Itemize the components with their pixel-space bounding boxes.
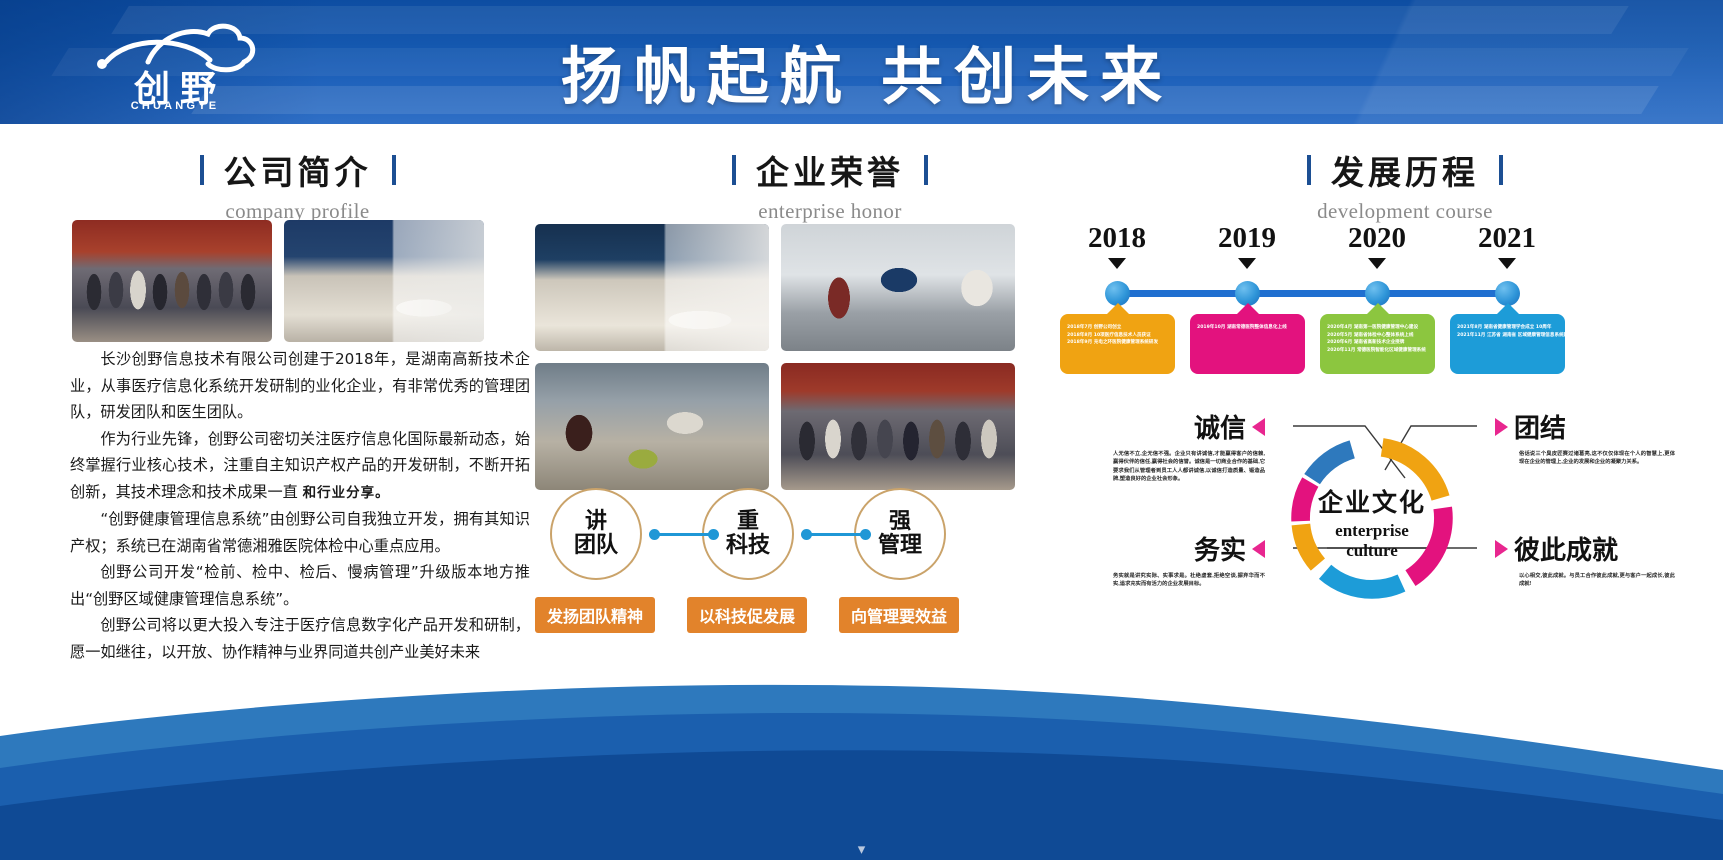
culture-quadrant-integrity: 诚信 人无信不立,企无信不强。企业只有讲诚信,才能赢得客户的信赖,赢得伙伴的信任… xyxy=(1085,408,1265,484)
culture-integrity-title: 诚信 xyxy=(1194,408,1246,445)
timeline-event: 2021年8月 湖南省健康管理学会成立 10周年 xyxy=(1457,324,1558,332)
culture-quadrant-mutual-success: 彼此成就 以心相交,彼此成就。与员工合作彼此成就,更与客户一起成长,彼此成就! xyxy=(1495,530,1675,589)
timeline-event: 2018年8月 10项医疗信息技术人员获证 xyxy=(1067,332,1168,340)
honor-title-en: enterprise honor xyxy=(570,199,1090,224)
flow-tag-3: 向管理要效益 xyxy=(839,597,959,633)
honor-title-cn: 企业荣誉 xyxy=(756,146,904,194)
honor-flow-diagram: 讲 团队 重 科技 强 管理 发扬团队精神 以科技促发展 xyxy=(530,484,1060,604)
profile-paragraph-2-text: 作为行业先锋，创野公司密切关注医疗信息化国际最新动态，始终掌握行业核心技术，注重… xyxy=(70,430,530,501)
flow-circle-1: 讲 团队 xyxy=(550,488,642,580)
timeline-card-2020: 2020年4月 湖南第一医院健康管理中心建设2020年5月 湖南省体检中心整体系… xyxy=(1320,314,1435,374)
page-header: 创野 CHUANGYE 扬帆起航 共创未来 xyxy=(0,0,1723,124)
profile-body: 长沙创野信息技术有限公司创建于2018年，是湖南高新技术企业，从事医疗信息化系统… xyxy=(70,346,530,665)
flow-tag-2: 以科技促发展 xyxy=(687,597,807,633)
photo-staff-group xyxy=(781,363,1015,490)
heading-bar-right xyxy=(392,155,396,185)
timeline-year-2021: 2021 xyxy=(1452,222,1562,255)
heading-bar-left xyxy=(200,155,204,185)
timeline-event: 2020年6月 湖南省高新技术企业授牌 xyxy=(1327,339,1428,347)
photo-open-office-workspace xyxy=(535,363,769,490)
flow-circle-3-line2: 管理 xyxy=(878,534,922,558)
photo-presentation-meeting xyxy=(781,224,1015,351)
honor-heading: 企业荣誉 enterprise honor xyxy=(570,146,1090,224)
honor-photo-row-1 xyxy=(535,224,1065,351)
flow-dot-1 xyxy=(649,529,660,540)
profile-paragraph-2: 作为行业先锋，创野公司密切关注医疗信息化国际最新动态，始终掌握行业核心技术，注重… xyxy=(70,426,530,507)
photo-office-reception xyxy=(284,220,484,342)
flow-circle-3-line1: 强 xyxy=(889,510,911,534)
culture-pragmatism-title: 务实 xyxy=(1194,530,1246,567)
timeline-card-2019: 2019年10月 湖南常德医院整体信息化上线 xyxy=(1190,314,1305,374)
arrow-right-icon xyxy=(1495,418,1508,436)
profile-heading: 公司简介 company profile xyxy=(60,146,535,224)
arrow-left-icon xyxy=(1252,540,1265,558)
heading-bar-right xyxy=(1499,155,1503,185)
culture-unity-body: 俗话说三个臭皮匠赛过诸葛亮,这不仅仅体现在个人的智慧上,更体现在企业的管理上,企… xyxy=(1495,450,1675,467)
timeline-card-2021: 2021年8月 湖南省健康管理学会成立 10周年2021年11月 江苏省 湖南省… xyxy=(1450,314,1565,374)
flow-dot-4 xyxy=(860,529,871,540)
corporate-culture-diagram: 企业文化 enterprise culture 诚信 人无信不立,企无信不强。企… xyxy=(1065,400,1685,630)
flow-circle-2-line1: 重 xyxy=(737,510,759,534)
timeline-event: 2018年9月 充电之环医院健康管理系统研发 xyxy=(1067,339,1168,347)
timeline-axis xyxy=(1112,290,1518,297)
culture-center-cn: 企业文化 xyxy=(1287,483,1457,519)
wave-graphic xyxy=(0,660,1723,860)
timeline-event: 2021年11月 江苏省 湖南省 区域健康管理信息系统建设 xyxy=(1457,332,1558,340)
footer-waves: ▾ xyxy=(0,660,1723,860)
heading-bar-right xyxy=(924,155,928,185)
development-title-en: development course xyxy=(1140,199,1670,224)
timeline-caret-4 xyxy=(1498,258,1516,269)
section-enterprise-honor: 企业荣誉 enterprise honor xyxy=(570,124,1090,224)
scroll-hint-icon: ▾ xyxy=(0,840,1723,858)
flow-dot-3 xyxy=(801,529,812,540)
timeline-event: 2019年10月 湖南常德医院整体信息化上线 xyxy=(1197,324,1298,332)
photo-office-lobby xyxy=(535,224,769,351)
profile-paragraph-3: “创野健康管理信息系统”由创野公司自我独立开发，拥有其知识产权；系统已在湖南省常… xyxy=(70,506,530,559)
culture-unity-title: 团结 xyxy=(1514,408,1566,445)
flow-tag-1: 发扬团队精神 xyxy=(535,597,655,633)
arrow-left-icon xyxy=(1252,418,1265,436)
culture-center-en-1: enterprise xyxy=(1287,521,1457,541)
flow-circle-1-line1: 讲 xyxy=(585,510,607,534)
profile-handwriting: 和行业分享。 xyxy=(303,485,390,500)
timeline-year-2018: 2018 xyxy=(1062,222,1172,255)
profile-title-cn: 公司简介 xyxy=(224,146,372,194)
poster-board: 创野 CHUANGYE 扬帆起航 共创未来 公司简介 company profi… xyxy=(0,0,1723,860)
flow-connector-1 xyxy=(654,533,712,536)
timeline-caret-2 xyxy=(1238,258,1256,269)
timeline-year-2020: 2020 xyxy=(1322,222,1432,255)
honor-photo-grid xyxy=(535,224,1065,502)
honor-photo-row-2 xyxy=(535,363,1065,490)
timeline-caret-3 xyxy=(1368,258,1386,269)
section-development-course: 发展历程 development course 2018 2019 2020 2… xyxy=(1140,124,1670,224)
timeline-event: 2020年5月 湖南省体检中心整体系统上线 xyxy=(1327,332,1428,340)
flow-circle-2-line2: 科技 xyxy=(726,534,770,558)
profile-photos xyxy=(72,220,484,342)
timeline-event: 2020年11月 常德医院智能化区域健康管理系统 xyxy=(1327,347,1428,355)
culture-integrity-body: 人无信不立,企无信不强。企业只有讲诚信,才能赢得客户的信赖,赢得伙伴的信任,赢得… xyxy=(1085,450,1265,484)
development-heading: 发展历程 development course xyxy=(1140,146,1670,224)
flow-dot-2 xyxy=(708,529,719,540)
development-timeline: 2018 2019 2020 2021 2018年7月 创野公司创立2018年8… xyxy=(1070,222,1670,392)
flow-circle-1-line2: 团队 xyxy=(574,534,618,558)
profile-paragraph-1: 长沙创野信息技术有限公司创建于2018年，是湖南高新技术企业，从事医疗信息化系统… xyxy=(70,346,530,426)
culture-mutual-success-body: 以心相交,彼此成就。与员工合作彼此成就,更与客户一起成长,彼此成就! xyxy=(1495,572,1675,589)
profile-paragraph-4: 创野公司开发“检前、检中、检后、慢病管理”升级版本地方推出“创野区域健康管理信息… xyxy=(70,559,530,612)
culture-center-label: 企业文化 enterprise culture xyxy=(1287,483,1457,561)
timeline-card-2018: 2018年7月 创野公司创立2018年8月 10项医疗信息技术人员获证2018年… xyxy=(1060,314,1175,374)
culture-quadrant-pragmatism: 务实 务实就是讲究实际、实事求是。杜绝虚套,拒绝空谈,摒弃华而不实,追求充实而有… xyxy=(1085,530,1265,589)
arrow-right-icon xyxy=(1495,540,1508,558)
timeline-event: 2020年4月 湖南第一医院健康管理中心建设 xyxy=(1327,324,1428,332)
culture-center-en-2: culture xyxy=(1287,541,1457,561)
timeline-caret-1 xyxy=(1108,258,1126,269)
heading-bar-left xyxy=(732,155,736,185)
page-title: 扬帆起航 共创未来 xyxy=(0,26,1723,116)
timeline-event: 2018年7月 创野公司创立 xyxy=(1067,324,1168,332)
heading-bar-left xyxy=(1307,155,1311,185)
section-company-profile: 公司简介 company profile 长沙创野信息技术有限公司创建于2018… xyxy=(60,124,535,224)
culture-mutual-success-title: 彼此成就 xyxy=(1514,530,1618,567)
culture-ring: 企业文化 enterprise culture xyxy=(1287,433,1457,603)
culture-quadrant-unity: 团结 俗话说三个臭皮匠赛过诸葛亮,这不仅仅体现在个人的智慧上,更体现在企业的管理… xyxy=(1495,408,1675,467)
culture-pragmatism-body: 务实就是讲究实际、实事求是。杜绝虚套,拒绝空谈,摒弃华而不实,追求充实而有活力的… xyxy=(1085,572,1265,589)
profile-paragraph-5: 创野公司将以更大投入专注于医疗信息数字化产品开发和研制，愿一如继往，以开放、协作… xyxy=(70,612,530,665)
timeline-year-2019: 2019 xyxy=(1192,222,1302,255)
main-content: 公司简介 company profile 长沙创野信息技术有限公司创建于2018… xyxy=(0,124,1723,684)
development-title-cn: 发展历程 xyxy=(1331,146,1479,194)
photo-team-group xyxy=(72,220,272,342)
flow-connector-2 xyxy=(806,533,864,536)
